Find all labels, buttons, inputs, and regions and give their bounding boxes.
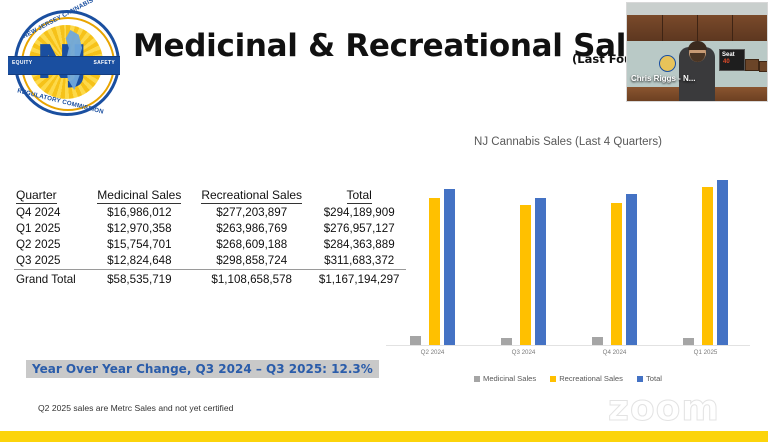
cell-medicinal: $12,970,358 bbox=[88, 221, 191, 237]
video-sign: Seat 40 bbox=[719, 49, 745, 71]
chart-bar bbox=[410, 336, 421, 345]
chart-legend-swatch bbox=[550, 376, 556, 382]
cell-recreational: $1,108,658,578 bbox=[191, 269, 312, 287]
table-grand-total-row: Grand Total $58,535,719 $1,108,658,578 $… bbox=[14, 269, 406, 287]
chart-bar bbox=[626, 194, 637, 345]
table-row: Q2 2025 $15,754,701 $268,609,188 $284,36… bbox=[14, 237, 406, 253]
table-row: Q3 2025 $12,824,648 $298,858,724 $311,68… bbox=[14, 253, 406, 270]
chart-title: NJ Cannabis Sales (Last 4 Quarters) bbox=[378, 136, 758, 148]
table-row: Q1 2025 $12,970,358 $263,986,769 $276,95… bbox=[14, 221, 406, 237]
cell-quarter: Q3 2025 bbox=[14, 253, 88, 270]
video-participant-tile[interactable]: Seat 40 Chris Riggs - N... bbox=[626, 2, 768, 102]
nj-cannabis-regulatory-commission-logo: NJ EQUITY SAFETY NEW JERSEY CANNABIS REG… bbox=[8, 6, 120, 116]
cell-medicinal: $12,824,648 bbox=[88, 253, 191, 270]
video-sign-line1: Seat bbox=[722, 52, 735, 58]
logo-arc-bottom: REGULATORY COMMISSION bbox=[16, 87, 104, 115]
chart-legend: Medicinal SalesRecreational SalesTotal bbox=[378, 374, 758, 383]
chart-bar bbox=[702, 187, 713, 345]
chart-legend-item: Total bbox=[637, 374, 662, 383]
chart-bar bbox=[444, 189, 455, 345]
video-cabinet-divider bbox=[662, 15, 663, 41]
chart-legend-item: Medicinal Sales bbox=[474, 374, 536, 383]
video-picture-frame bbox=[759, 61, 768, 72]
logo-arc-top: NEW JERSEY CANNABIS bbox=[22, 0, 95, 40]
column-header-recreational: Recreational Sales bbox=[191, 186, 312, 205]
video-cabinet-divider bbox=[697, 15, 698, 41]
chart-legend-label: Medicinal Sales bbox=[483, 374, 536, 383]
chart-legend-label: Recreational Sales bbox=[559, 374, 623, 383]
cell-recreational: $263,986,769 bbox=[191, 221, 312, 237]
cell-quarter: Grand Total bbox=[14, 269, 88, 287]
zoom-watermark: zoom bbox=[608, 388, 720, 429]
table-row: Q4 2024 $16,986,012 $277,203,897 $294,18… bbox=[14, 205, 406, 221]
cell-medicinal: $58,535,719 bbox=[88, 269, 191, 287]
cell-quarter: Q1 2025 bbox=[14, 221, 88, 237]
chart-x-axis-label: Q1 2025 bbox=[666, 349, 746, 356]
video-wall-top bbox=[627, 3, 767, 15]
cell-quarter: Q2 2025 bbox=[14, 237, 88, 253]
sales-bar-chart: NJ Cannabis Sales (Last 4 Quarters) Q2 2… bbox=[378, 136, 758, 386]
chart-bar bbox=[501, 338, 512, 345]
table-header-row: Quarter Medicinal Sales Recreational Sal… bbox=[14, 186, 406, 205]
chart-bar bbox=[611, 203, 622, 345]
chart-x-axis-label: Q2 2024 bbox=[393, 349, 473, 356]
cell-medicinal: $15,754,701 bbox=[88, 237, 191, 253]
video-picture-frame bbox=[745, 59, 759, 71]
chart-legend-swatch bbox=[637, 376, 643, 382]
cell-recreational: $268,609,188 bbox=[191, 237, 312, 253]
column-header-quarter: Quarter bbox=[14, 186, 88, 205]
footnote: Q2 2025 sales are Metrc Sales and not ye… bbox=[38, 403, 233, 413]
video-wall-seal-icon bbox=[659, 55, 676, 72]
cell-medicinal: $16,986,012 bbox=[88, 205, 191, 221]
year-over-year-change-highlight: Year Over Year Change, Q3 2024 – Q3 2025… bbox=[26, 360, 379, 378]
chart-legend-label: Total bbox=[646, 374, 662, 383]
bottom-accent-bar bbox=[0, 431, 768, 442]
cell-recreational: $298,858,724 bbox=[191, 253, 312, 270]
chart-plot-area: Q2 2024Q3 2024Q4 2024Q1 2025 bbox=[386, 170, 750, 346]
chart-bar bbox=[717, 180, 728, 345]
chart-bar bbox=[520, 205, 531, 345]
chart-bar bbox=[429, 198, 440, 345]
slide-canvas: NJ EQUITY SAFETY NEW JERSEY CANNABIS REG… bbox=[0, 0, 768, 442]
video-cabinet-divider bbox=[732, 15, 733, 41]
chart-legend-swatch bbox=[474, 376, 480, 382]
participant-name-label: Chris Riggs - N... bbox=[631, 74, 695, 83]
logo-arc-text: NEW JERSEY CANNABIS REGULATORY COMMISSIO… bbox=[8, 6, 120, 116]
chart-x-axis-label: Q3 2024 bbox=[484, 349, 564, 356]
cell-quarter: Q4 2024 bbox=[14, 205, 88, 221]
video-sign-line2: 40 bbox=[723, 59, 730, 65]
chart-x-axis bbox=[386, 345, 750, 346]
chart-legend-item: Recreational Sales bbox=[550, 374, 623, 383]
sales-table: Quarter Medicinal Sales Recreational Sal… bbox=[14, 186, 406, 287]
chart-bar bbox=[683, 338, 694, 345]
chart-bar bbox=[535, 198, 546, 345]
column-header-medicinal: Medicinal Sales bbox=[88, 186, 191, 205]
cell-recreational: $277,203,897 bbox=[191, 205, 312, 221]
chart-x-axis-label: Q4 2024 bbox=[575, 349, 655, 356]
chart-bar bbox=[592, 337, 603, 345]
